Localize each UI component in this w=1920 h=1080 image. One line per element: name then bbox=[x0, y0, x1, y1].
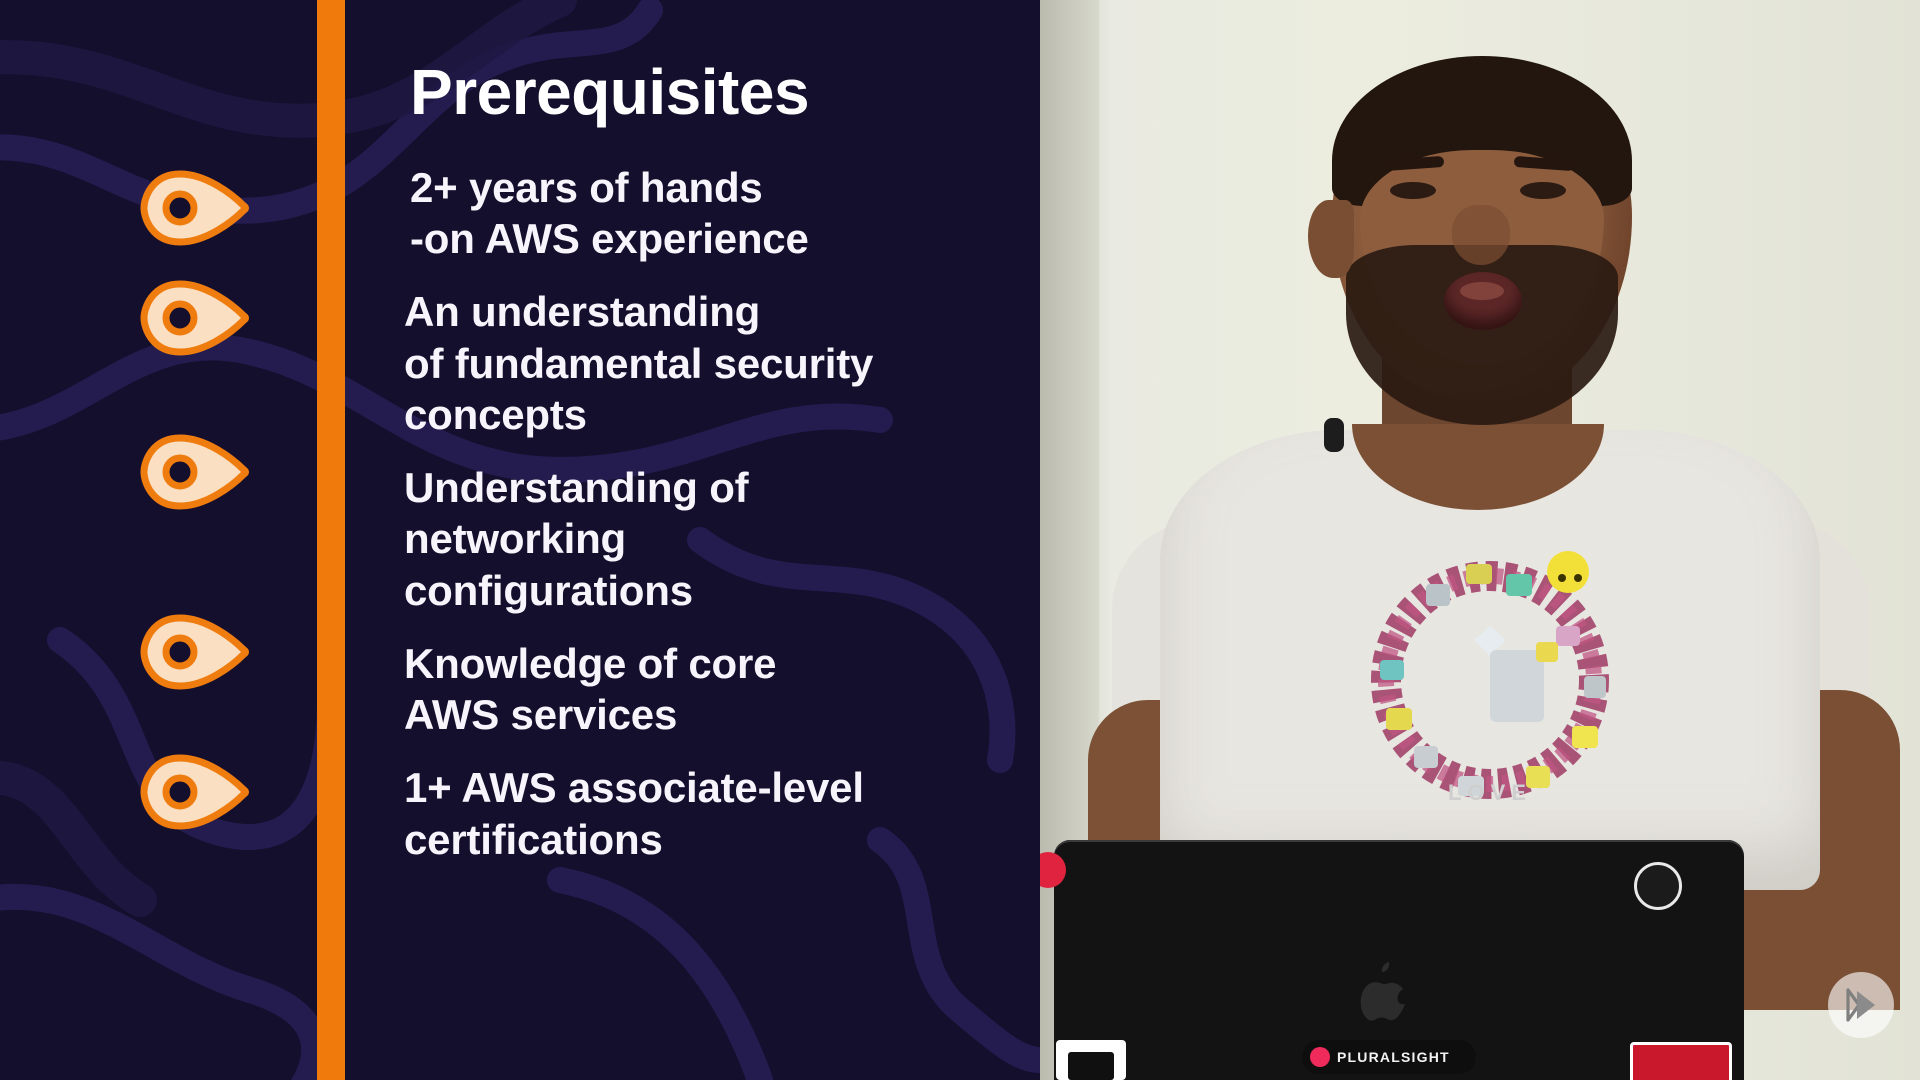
pluralsight-sticker-label: PLURALSIGHT bbox=[1337, 1049, 1450, 1065]
slide-content: Prerequisites 2+ years of hands -on AWS … bbox=[404, 60, 1024, 887]
laptop-sticker-corner-inner bbox=[1068, 1052, 1114, 1080]
mouth bbox=[1444, 272, 1522, 330]
laptop-sticker-round-badge bbox=[1634, 862, 1682, 910]
lip-highlight bbox=[1460, 282, 1504, 300]
tshirt-print-caption: LOVE bbox=[1370, 780, 1610, 806]
slide-root: Prerequisites 2+ years of hands -on AWS … bbox=[0, 0, 1920, 1080]
teardrop-eye-marker-icon bbox=[140, 168, 250, 248]
teardrop-eye-marker-icon bbox=[140, 432, 250, 512]
prerequisite-item-core-services: Knowledge of core AWS services bbox=[404, 638, 1024, 740]
bullet-marker-group bbox=[0, 0, 340, 1080]
lapel-microphone-icon bbox=[1324, 418, 1344, 452]
prerequisite-item-security: An understanding of fundamental security… bbox=[404, 286, 1024, 440]
pluralsight-logo-watermark bbox=[1828, 972, 1894, 1038]
nose bbox=[1452, 205, 1510, 265]
teardrop-eye-marker-icon bbox=[140, 612, 250, 692]
pluralsight-dot-icon bbox=[1310, 1047, 1330, 1067]
teardrop-eye-marker-icon bbox=[140, 752, 250, 832]
teardrop-eye-marker-icon bbox=[140, 278, 250, 358]
eye-right bbox=[1520, 182, 1566, 199]
page-title: Prerequisites bbox=[404, 60, 1024, 124]
eye-left bbox=[1390, 182, 1436, 199]
slide-panel: Prerequisites 2+ years of hands -on AWS … bbox=[0, 0, 1040, 1080]
presenter-ear bbox=[1308, 200, 1354, 278]
prerequisite-item-networking: Understanding of networking configuratio… bbox=[404, 462, 1024, 616]
presenter-video: LOVE PLURALSIGHT bbox=[1040, 0, 1920, 1080]
laptop-sticker-pluralsight: PLURALSIGHT bbox=[1302, 1040, 1476, 1074]
prerequisite-item-experience: 2+ years of hands -on AWS experience bbox=[404, 162, 1024, 264]
prerequisite-item-certifications: 1+ AWS associate-level certifications bbox=[404, 762, 1024, 864]
apple-logo-icon bbox=[1360, 960, 1414, 1022]
triangle-play-mark-icon bbox=[1841, 985, 1881, 1025]
laptop-sticker-red-badge bbox=[1630, 1042, 1732, 1080]
